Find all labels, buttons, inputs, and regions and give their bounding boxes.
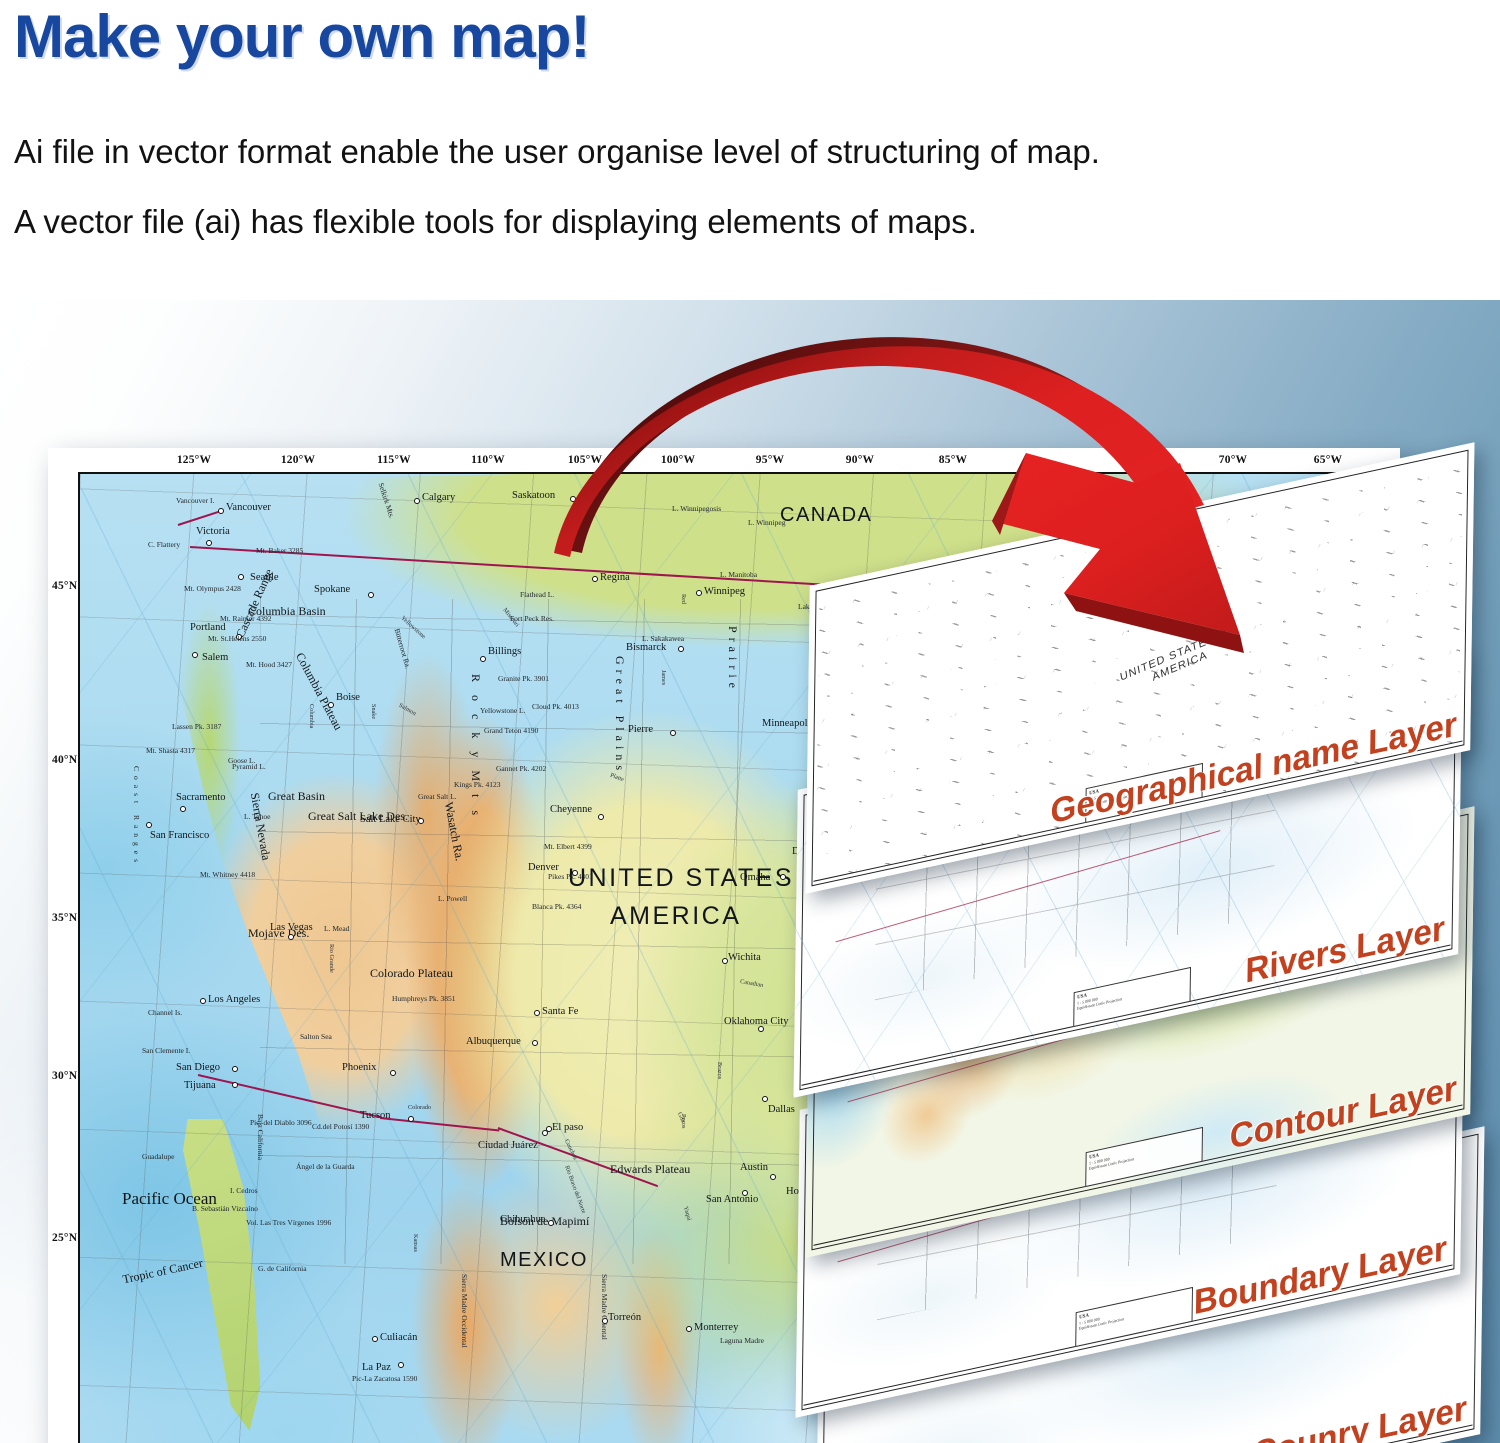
axis-left-label: 40°N — [52, 754, 77, 766]
city-label: San Francisco — [150, 830, 209, 841]
axis-top-label: 95°W — [756, 454, 784, 466]
river-label: Colorado — [408, 1104, 431, 1111]
region-label: Edwards Plateau — [610, 1162, 690, 1177]
axis-top-label: 115°W — [377, 454, 411, 466]
peak-label: Vol. Las Tres Vírgenes 1996 — [246, 1218, 331, 1227]
city-dot — [206, 540, 212, 546]
city-label: Monterrey — [694, 1322, 738, 1333]
city-dot — [192, 652, 198, 658]
water-label: Yellowstone L. — [480, 706, 526, 715]
axis-left-label: 30°N — [52, 1070, 77, 1082]
city-label: Tijuana — [184, 1080, 216, 1091]
description-line-2: A vector file (ai) has flexible tools fo… — [14, 203, 977, 241]
city-label: Portland — [190, 622, 226, 633]
city-label: Albuquerque — [466, 1036, 521, 1047]
city-label: Wichita — [728, 952, 761, 963]
axis-left-label: 45°N — [52, 580, 77, 592]
city-dot — [390, 1070, 396, 1076]
city-label: Austin — [740, 1162, 768, 1173]
water-label: L. Mead — [324, 924, 349, 933]
city-dot — [532, 1040, 538, 1046]
peak-label: Humphreys Pk. 3851 — [392, 994, 456, 1003]
water-label: Great Salt L. — [418, 792, 457, 801]
city-dot — [670, 730, 676, 736]
axis-top-label: 65°W — [1314, 454, 1342, 466]
river-label: Brazos — [716, 1062, 723, 1079]
city-dot — [398, 1362, 404, 1368]
city-dot — [372, 1336, 378, 1342]
city-label: Cheyenne — [550, 804, 592, 815]
city-dot — [570, 496, 576, 502]
region-label: Coast Ranges — [132, 766, 141, 867]
city-label: Victoria — [196, 526, 230, 537]
city-dot — [742, 1190, 748, 1196]
city-label: Salt Lake City — [360, 814, 421, 825]
city-label: Torreón — [608, 1312, 641, 1323]
peak-label: Mt. Shasta 4317 — [146, 746, 195, 755]
water-label: Flathead L. — [520, 590, 554, 599]
country-label-mexico: MEXICO — [500, 1249, 588, 1272]
axis-left-label: 35°N — [52, 912, 77, 924]
river-label: James — [660, 670, 667, 685]
city-dot — [602, 1318, 608, 1324]
city-dot — [534, 1010, 540, 1016]
region-label: Great Basin — [268, 789, 325, 804]
city-dot — [368, 592, 374, 598]
peak-label: Pic. del Diablo 3096 — [250, 1118, 312, 1127]
water-label: L. Winnipeg — [748, 518, 785, 527]
city-label: Los Angeles — [208, 994, 260, 1005]
city-dot — [218, 508, 224, 514]
city-label: Vancouver — [226, 502, 271, 513]
city-label: Culiacán — [380, 1332, 417, 1343]
description-line-1: Ai file in vector format enable the user… — [14, 133, 1100, 171]
city-dot — [328, 702, 334, 708]
island-label: Channel Is. — [148, 1008, 182, 1017]
city-label: Las Vegas — [270, 922, 313, 933]
city-label: Billings — [488, 646, 521, 657]
peak-label: Pikes Pk. 4301 — [548, 872, 593, 881]
axis-top-label: 100°W — [661, 454, 695, 466]
peak-label: Mt. St.Helens 2550 — [208, 634, 266, 643]
city-dot — [548, 1220, 554, 1226]
river-label: Snake — [370, 704, 377, 719]
peak-label: Mt. Hood 3427 — [246, 660, 292, 669]
axis-top-label: 125°W — [177, 454, 211, 466]
axis-top-label: 75°W — [1124, 454, 1152, 466]
city-label: Omaha — [740, 872, 770, 883]
axis-top-label: 90°W — [846, 454, 874, 466]
city-dot — [758, 1026, 764, 1032]
city-label: Regina — [600, 572, 630, 583]
island-label: Guadalupe — [142, 1152, 175, 1161]
city-dot — [146, 822, 152, 828]
city-dot — [180, 806, 186, 812]
axis-top-label: 120°W — [281, 454, 315, 466]
region-label: Great Plains — [612, 656, 627, 775]
page-title: Make your own map! — [14, 2, 589, 71]
city-label: Boise — [336, 692, 360, 703]
water-label: L. Powell — [438, 894, 467, 903]
city-dot — [780, 874, 786, 880]
city-label: Chihuahua — [500, 1214, 546, 1225]
river-label: Kansas — [412, 1234, 419, 1252]
axis-top-label: 105°W — [568, 454, 602, 466]
water-label: L. Sakakawea — [642, 634, 684, 643]
island-label: B. Sebastián Vizcaíno — [192, 1204, 258, 1213]
country-label-usa-2: AMERICA — [610, 902, 741, 931]
city-dot — [480, 656, 486, 662]
region-label: Prairie — [725, 626, 740, 693]
island-label: Vancouver I. — [176, 496, 214, 505]
city-dot — [722, 958, 728, 964]
water-label: Laguna Madre — [720, 1336, 764, 1345]
city-dot — [678, 646, 684, 652]
river-label: Red — [680, 594, 687, 604]
city-dot — [598, 814, 604, 820]
island-label: C. Flattery — [148, 540, 180, 549]
river-label: Rio Grande — [328, 944, 335, 973]
city-label: Oklahoma City — [724, 1016, 788, 1027]
peak-label: Mt. Olympus 2428 — [184, 584, 241, 593]
region-label: Sierra Madre Occidental — [460, 1274, 469, 1348]
city-dot — [408, 1116, 414, 1122]
city-label: Seattle — [250, 572, 279, 583]
peak-label: Mt. Whitney 4418 — [200, 870, 255, 879]
water-label: L. Tahoe — [244, 812, 270, 821]
city-label: Winnipeg — [704, 586, 745, 597]
city-dot — [762, 1096, 768, 1102]
city-dot — [232, 1082, 238, 1088]
region-label: Sierra Madre Oriental — [600, 1274, 609, 1340]
peak-label: Gannet Pk. 4202 — [496, 764, 546, 773]
city-dot — [418, 818, 424, 824]
river-label: Columbia — [308, 704, 315, 728]
city-label: Tucson — [360, 1110, 391, 1121]
city-label: Calgary — [422, 492, 455, 503]
region-label: Colorado Plateau — [370, 966, 453, 981]
axis-left-label: 25°N — [52, 1232, 77, 1244]
city-label: Ciudad Juárez — [478, 1140, 538, 1151]
peak-label: Kings Pk. 4123 — [454, 780, 500, 789]
city-label: Salem — [202, 652, 228, 663]
city-label: Saskatoon — [512, 490, 555, 501]
region-label-rockies: R o c k y M t s — [468, 674, 483, 820]
city-label: Santa Fe — [542, 1006, 578, 1017]
city-label: Pierre — [628, 724, 653, 735]
city-label: Spokane — [314, 584, 350, 595]
city-dot — [696, 590, 702, 596]
water-label: Goose L. — [228, 756, 256, 765]
city-dot — [288, 934, 294, 940]
city-dot — [414, 498, 420, 504]
city-label: El paso — [552, 1122, 583, 1133]
island-label: I. Cedros — [230, 1186, 258, 1195]
peak-label: Pic-La Zacatosa 1590 — [352, 1374, 417, 1383]
peak-label: Blanca Pk. 4364 — [532, 902, 581, 911]
city-dot — [592, 576, 598, 582]
city-dot — [232, 1066, 238, 1072]
peak-label: Grand Teton 4190 — [484, 726, 538, 735]
city-label: Bismarck — [626, 642, 666, 653]
illustration-stage: 125°W 120°W 115°W 110°W 105°W 100°W 95°W… — [0, 300, 1500, 1443]
axis-top-label: 85°W — [939, 454, 967, 466]
city-label: Dallas — [768, 1104, 795, 1115]
city-label: La Paz — [362, 1362, 391, 1373]
axis-top-label: 70°W — [1219, 454, 1247, 466]
water-label: L. Winnipegosis — [672, 504, 721, 513]
city-label: Sacramento — [176, 792, 226, 803]
city-label: Phoenix — [342, 1062, 376, 1073]
peak-label: Granite Pk. 3901 — [498, 674, 549, 683]
island-label: Ángel de la Guarda — [296, 1162, 355, 1171]
peak-label: Mt. Elbert 4399 — [544, 842, 592, 851]
water-label: G. de California — [258, 1264, 307, 1273]
city-dot — [686, 1326, 692, 1332]
peak-label: Mt. Baker 3285 — [256, 546, 303, 555]
country-label-canada: CANADA — [780, 504, 872, 527]
header-block: Make your own map! Ai file in vector for… — [0, 0, 1500, 300]
water-label: L. Manitoba — [720, 570, 757, 579]
city-dot — [546, 1126, 552, 1132]
peak-label: Cd.del Potosí 1390 — [312, 1122, 369, 1131]
peak-label: Lassen Pk. 3187 — [172, 722, 221, 731]
water-label: Salton Sea — [300, 1032, 332, 1041]
axis-top-label: 110°W — [471, 454, 505, 466]
city-label: San Antonio — [706, 1194, 758, 1205]
city-label: Minneapolis — [762, 718, 815, 729]
peak-label: Cloud Pk. 4013 — [532, 702, 579, 711]
city-dot — [238, 574, 244, 580]
island-label: San Clemente I. — [142, 1046, 190, 1055]
city-dot — [200, 998, 206, 1004]
peak-label: Mt. Rainier 4392 — [220, 614, 271, 623]
city-dot — [770, 1174, 776, 1180]
city-label: San Diego — [176, 1062, 220, 1073]
